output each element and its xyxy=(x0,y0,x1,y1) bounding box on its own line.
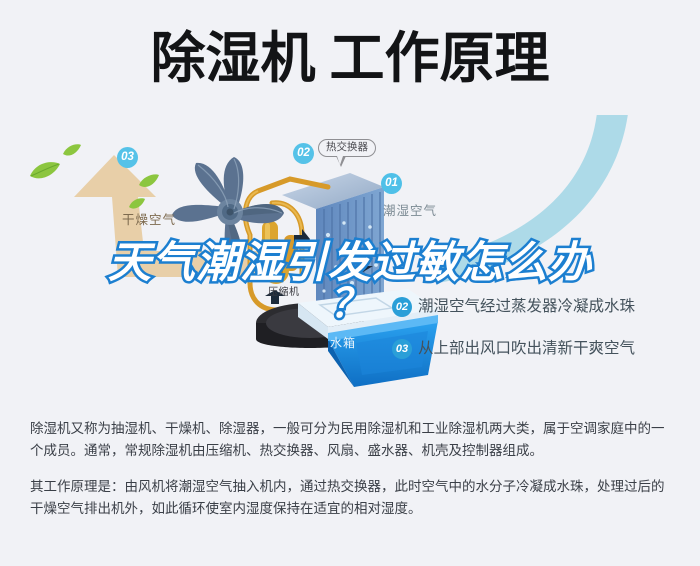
leaf-icon xyxy=(138,173,160,190)
leaf-icon xyxy=(28,160,62,182)
diagram-badge-01: 01 xyxy=(381,173,402,194)
legend: 01 潮湿空气 02 潮湿空气经过蒸发器冷凝成水珠 03 从上部出风口吹出清新干… xyxy=(392,295,692,369)
compressor-label: 压缩机 xyxy=(268,283,300,298)
dry-air-label: 干燥空气 xyxy=(122,209,176,228)
body-paragraph-2: 其工作原理是：由风机将潮湿空气抽入机内，通过热交换器，此时空气中的水分子冷凝成水… xyxy=(30,476,675,520)
legend-text-03: 从上部出风口吹出清新干爽空气 xyxy=(418,338,635,359)
page-title-part1: 除湿机 xyxy=(150,27,315,89)
legend-text-02: 潮湿空气经过蒸发器冷凝成水珠 xyxy=(418,296,635,317)
diagram-badge-03: 03 xyxy=(117,147,138,168)
fan-blades-icon xyxy=(168,155,293,270)
header: 除湿机工作原理 xyxy=(0,0,700,125)
heat-exchanger-label: 热交换器 xyxy=(326,141,368,153)
legend-badge-02: 02 xyxy=(392,297,412,317)
legend-item: 03 从上部出风口吹出清新干爽空气 xyxy=(392,337,692,369)
body-paragraph-1: 除湿机又称为抽湿机、干燥机、除湿器，一般可分为民用除湿机和工业除湿机两大类，属于… xyxy=(30,418,675,462)
legend-badge-03: 03 xyxy=(392,339,412,359)
humid-air-label: 潮湿空气 xyxy=(383,200,437,219)
page-title-part2: 工作原理 xyxy=(330,27,550,89)
leaf-icon xyxy=(62,143,82,158)
callout-tail-inner-icon xyxy=(337,156,343,165)
infographic-page: 除湿机工作原理 xyxy=(0,0,700,566)
diagram-badge-02: 02 xyxy=(293,143,314,164)
page-title: 除湿机工作原理 xyxy=(0,28,700,88)
legend-item: 02 潮湿空气经过蒸发器冷凝成水珠 xyxy=(392,295,692,327)
body-copy: 除湿机又称为抽湿机、干燥机、除湿器，一般可分为民用除湿机和工业除湿机两大类，属于… xyxy=(30,418,675,520)
heat-exchanger-callout: 热交换器 xyxy=(318,139,376,157)
water-tank-label: 水箱 xyxy=(330,334,356,351)
